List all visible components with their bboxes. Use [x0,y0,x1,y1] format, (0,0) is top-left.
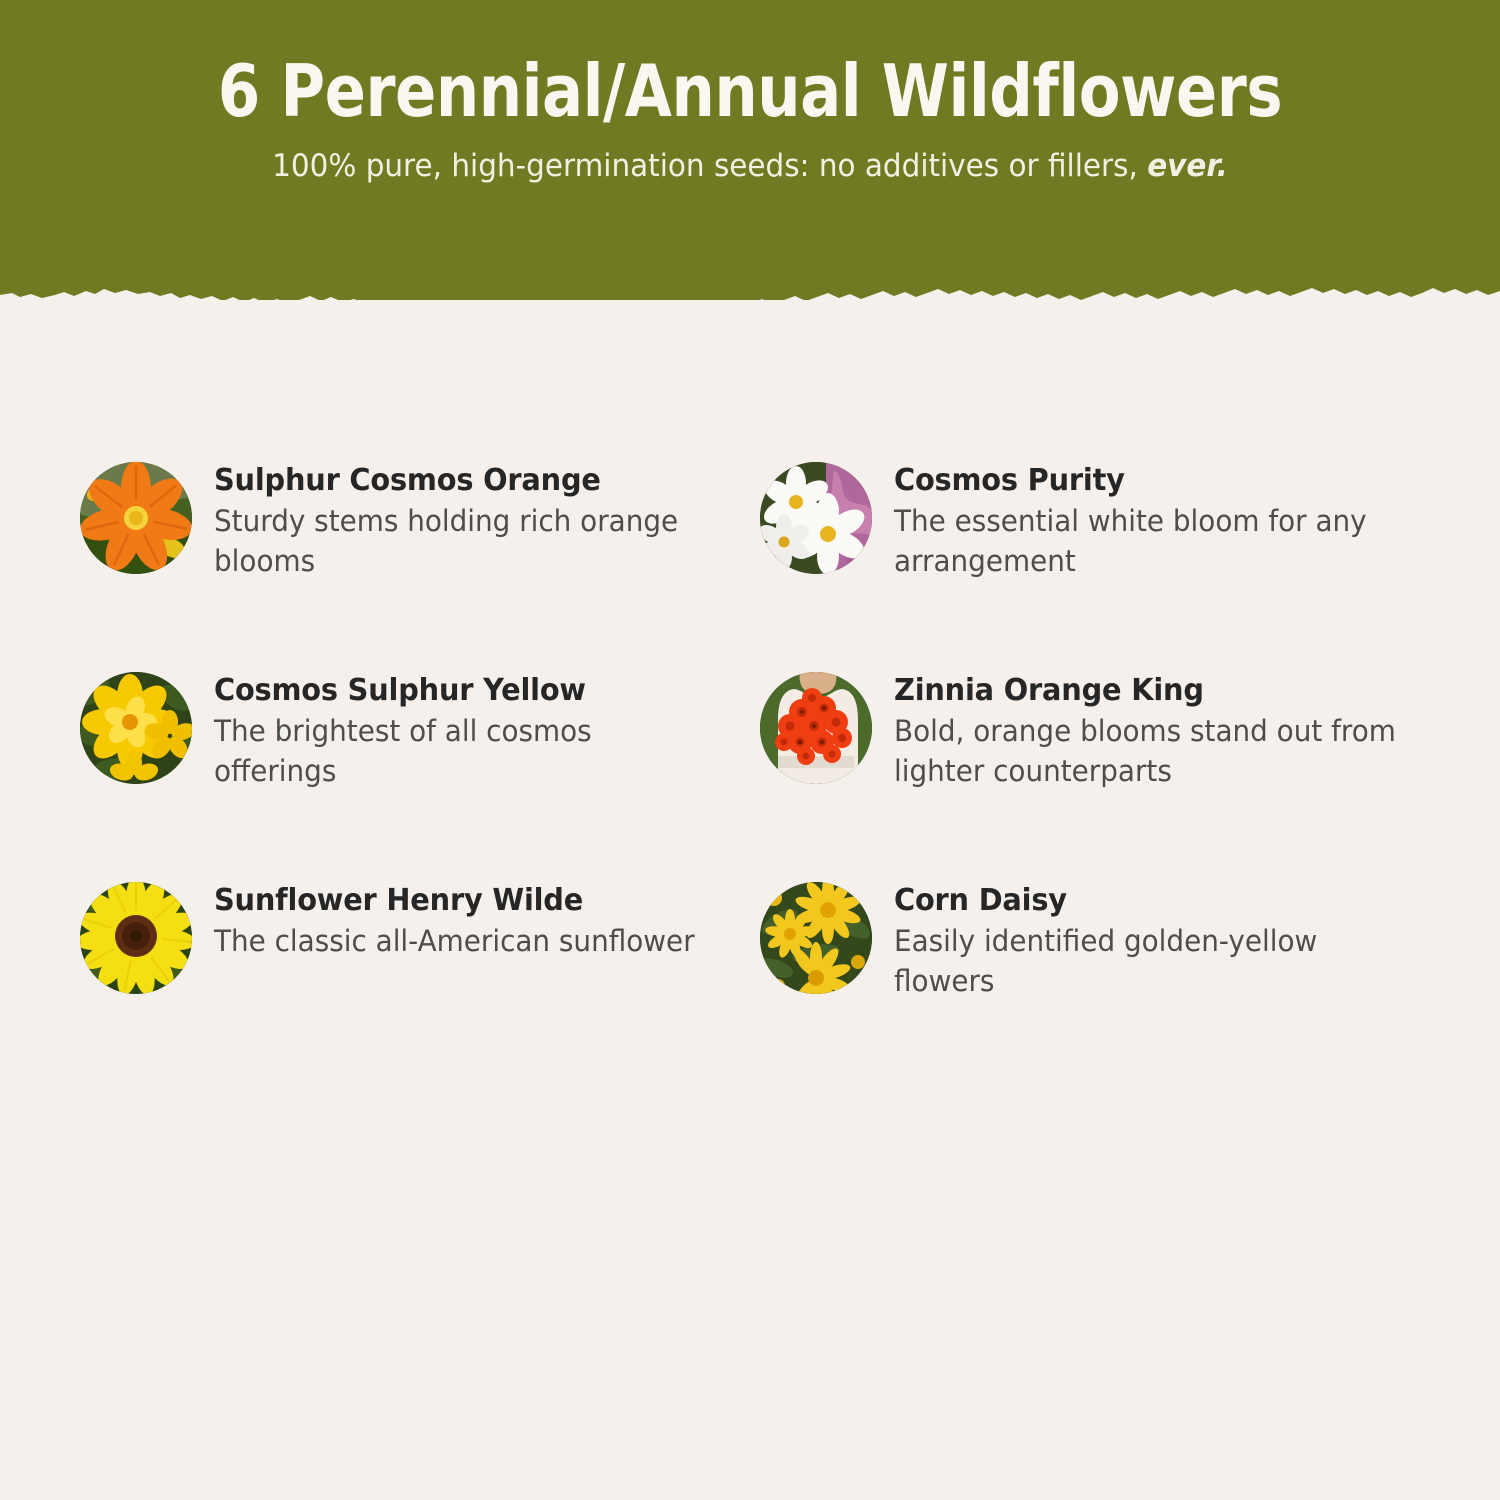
feature-description: Bold, orange blooms stand out from light… [894,712,1403,790]
feature-text-block: Zinnia Orange King Bold, orange blooms s… [872,650,1424,791]
feature-text-block: Cosmos Purity The essential white bloom … [872,440,1424,581]
header-banner: 6 Perennial/Annual Wildflowers 100% pure… [0,0,1500,310]
page-subtitle: 100% pure, high-germination seeds: no ad… [38,130,1463,185]
feature-list: Sulphur Cosmos Orange Sturdy stems holdi… [0,440,1500,1070]
feature-title: Cosmos Sulphur Yellow [214,672,723,710]
feature-title: Zinnia Orange King [894,672,1403,710]
feature-title: Cosmos Purity [894,462,1403,500]
subtitle-emphasis-text: ever. [1147,148,1228,184]
feature-item: Zinnia Orange King Bold, orange blooms s… [760,650,1440,860]
yellow-cosmos-flower-thumbnail [80,672,192,784]
white-cosmos-flower-thumbnail [760,462,872,574]
feature-text-block: Sulphur Cosmos Orange Sturdy stems holdi… [192,440,744,581]
feature-description: The essential white bloom for any arrang… [894,502,1403,580]
feature-item: Sulphur Cosmos Orange Sturdy stems holdi… [80,440,760,650]
feature-text-block: Corn Daisy Easily identified golden-yell… [872,860,1424,1001]
feature-item: Sunflower Henry Wilde The classic all-Am… [80,860,760,1070]
subtitle-main-text: 100% pure, high-germination seeds: no ad… [272,148,1147,184]
feature-description: The brightest of all cosmos offerings [214,712,723,790]
torn-paper-edge-icon [0,268,1500,310]
feature-title: Sulphur Cosmos Orange [214,462,723,500]
feature-text-block: Sunflower Henry Wilde The classic all-Am… [192,860,715,962]
orange-zinnia-bouquet-thumbnail [760,672,872,784]
feature-description: The classic all-American sunflower [214,922,695,961]
feature-description: Easily identified golden-yellow flowers [894,922,1403,1000]
feature-title: Sunflower Henry Wilde [214,882,695,920]
feature-description: Sturdy stems holding rich orange blooms [214,502,723,580]
feature-text-block: Cosmos Sulphur Yellow The brightest of a… [192,650,744,791]
header-text-block: 6 Perennial/Annual Wildflowers 100% pure… [0,0,1500,185]
sunflower-thumbnail [80,882,192,994]
feature-item: Cosmos Purity The essential white bloom … [760,440,1440,650]
feature-item: Corn Daisy Easily identified golden-yell… [760,860,1440,1070]
page-title: 6 Perennial/Annual Wildflowers [45,0,1455,130]
feature-title: Corn Daisy [894,882,1403,920]
orange-cosmos-flower-thumbnail [80,462,192,574]
corn-daisy-thumbnail [760,882,872,994]
feature-item: Cosmos Sulphur Yellow The brightest of a… [80,650,760,860]
